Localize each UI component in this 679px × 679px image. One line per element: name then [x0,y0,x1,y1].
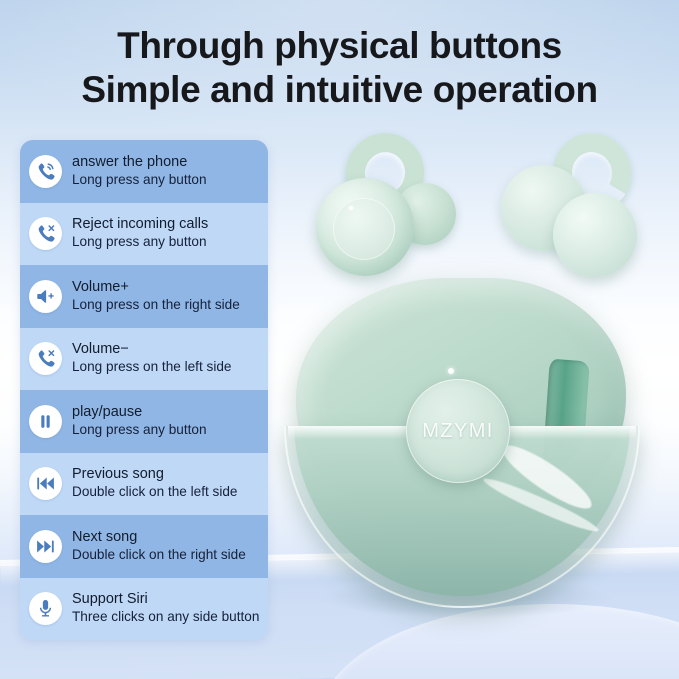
charging-case-brand-button: MZYMI [406,379,510,483]
feature-row[interactable]: Next songDouble click on the right side [20,515,268,578]
feature-subtitle: Long press any button [72,172,207,189]
feature-title: Volume+ [72,279,240,297]
earbud-right [495,133,645,278]
feature-row[interactable]: Volume+Long press on the right side [20,265,268,328]
feature-text: Reject incoming callsLong press any butt… [72,216,208,251]
feature-text: Next songDouble click on the right side [72,529,246,564]
phone-call-incoming-icon [29,155,62,188]
feature-subtitle: Long press on the right side [72,297,240,314]
earbud-left [310,133,470,278]
page-title: Through physical buttons Simple and intu… [0,24,679,113]
feature-subtitle: Long press any button [72,234,208,251]
earbud-left-led-icon [349,206,353,210]
feature-list-panel: answer the phoneLong press any buttonRej… [20,140,268,640]
feature-subtitle: Long press any button [72,422,207,439]
feature-text: Support SiriThree clicks on any side but… [72,591,259,626]
feature-title: play/pause [72,404,207,422]
charging-case: MZYMI [276,278,650,608]
play-pause-icon [29,405,62,438]
feature-title: Next song [72,529,246,547]
infographic-canvas: Through physical buttons Simple and intu… [0,0,679,679]
earbud-left-touch-plate [333,198,395,260]
feature-row[interactable]: Support SiriThree clicks on any side but… [20,578,268,641]
feature-text: answer the phoneLong press any button [72,154,207,189]
phone-call-reject-icon [29,217,62,250]
feature-subtitle: Long press on the left side [72,359,231,376]
feature-title: Support Siri [72,591,259,609]
feature-title: answer the phone [72,154,207,172]
feature-row[interactable]: answer the phoneLong press any button [20,140,268,203]
feature-row[interactable]: Volume−Long press on the left side [20,328,268,391]
microphone-icon [29,592,62,625]
brand-logo-text: MZYMI [422,420,493,443]
feature-subtitle: Double click on the right side [72,547,246,564]
earbud-right-speaker-pod [553,193,637,277]
feature-subtitle: Three clicks on any side button [72,609,259,626]
feature-row[interactable]: play/pauseLong press any button [20,390,268,453]
feature-title: Volume− [72,341,231,359]
feature-title: Previous song [72,466,237,484]
phone-call-reject-icon [29,342,62,375]
feature-row[interactable]: Previous songDouble click on the left si… [20,453,268,516]
feature-text: Volume−Long press on the left side [72,341,231,376]
page-title-line-2: Simple and intuitive operation [0,68,679,112]
feature-text: Previous songDouble click on the left si… [72,466,237,501]
previous-track-icon [29,467,62,500]
earbud-left-speaker-pod [316,178,414,276]
feature-text: play/pauseLong press any button [72,404,207,439]
charging-case-led-icon [448,368,454,374]
feature-text: Volume+Long press on the right side [72,279,240,314]
page-title-line-1: Through physical buttons [0,24,679,68]
feature-subtitle: Double click on the left side [72,484,237,501]
feature-row[interactable]: Reject incoming callsLong press any butt… [20,203,268,266]
next-track-icon [29,530,62,563]
volume-up-icon [29,280,62,313]
feature-title: Reject incoming calls [72,216,208,234]
